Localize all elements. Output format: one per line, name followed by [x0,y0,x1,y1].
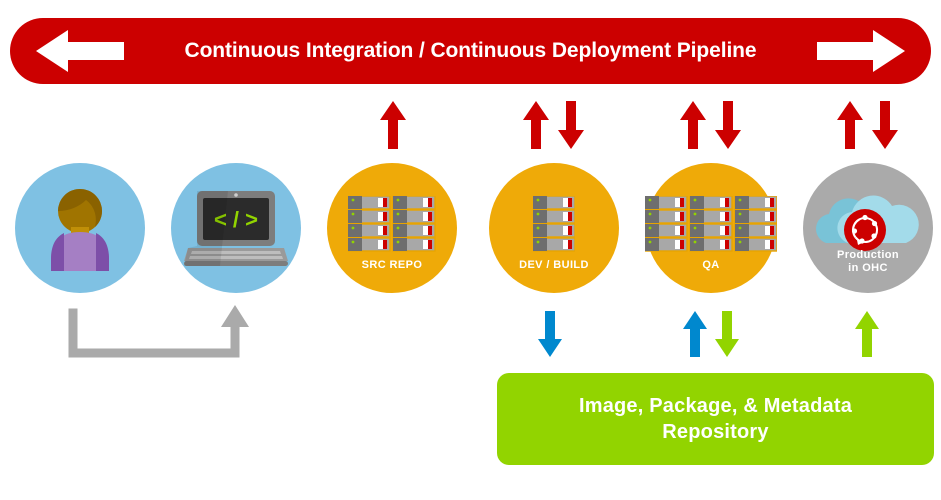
node-dev-build-label: DEV / BUILD [489,259,619,272]
laptop-code-icon: < / > [184,191,288,267]
pipeline-arrow-production-down [870,100,900,150]
node-workstation[interactable]: < / > [171,163,301,293]
repo-arrow-qa-down [713,310,741,358]
arrow-right-icon [815,28,907,74]
node-src-repo-label: SRC REPO [327,259,457,272]
pipeline-arrow-production-up [835,100,865,150]
repository-box[interactable]: Image, Package, & Metadata Repository [497,373,934,465]
pipeline-arrow-dev-build-down [556,100,586,150]
cloud-openshift-icon [810,183,926,259]
feedback-connector [60,305,260,367]
node-production[interactable]: Production in OHC [803,163,933,293]
server-rack-icon [533,196,575,252]
repository-label-line2: Repository [579,419,852,445]
node-developer[interactable] [15,163,145,293]
pipeline-arrow-qa-down [713,100,743,150]
person-icon [39,187,121,271]
node-src-repo[interactable]: SRC REPO [327,163,457,293]
node-qa-label: QA [646,259,776,272]
server-rack-icon [645,196,777,252]
node-production-label-line2: in OHC [803,262,933,275]
server-rack-icon [348,196,436,252]
repo-arrow-qa-up [681,310,709,358]
repository-label-line1: Image, Package, & Metadata [579,393,852,419]
node-qa[interactable]: QA [646,163,776,293]
arrow-up-icon [221,305,249,327]
pipeline-arrow-qa-up [678,100,708,150]
diagram-canvas: Continuous Integration / Continuous Depl… [0,0,941,500]
pipeline-title: Continuous Integration / Continuous Depl… [10,18,931,84]
repo-arrow-dev-build-down [536,310,564,358]
pipeline-banner: Continuous Integration / Continuous Depl… [10,18,931,84]
node-production-label-line1: Production [803,249,933,262]
repo-arrow-production-up [853,310,881,358]
pipeline-arrow-dev-build-up [521,100,551,150]
node-dev-build[interactable]: DEV / BUILD [489,163,619,293]
pipeline-arrow-src-repo-up [378,100,408,150]
repository-label: Image, Package, & Metadata Repository [579,393,852,445]
